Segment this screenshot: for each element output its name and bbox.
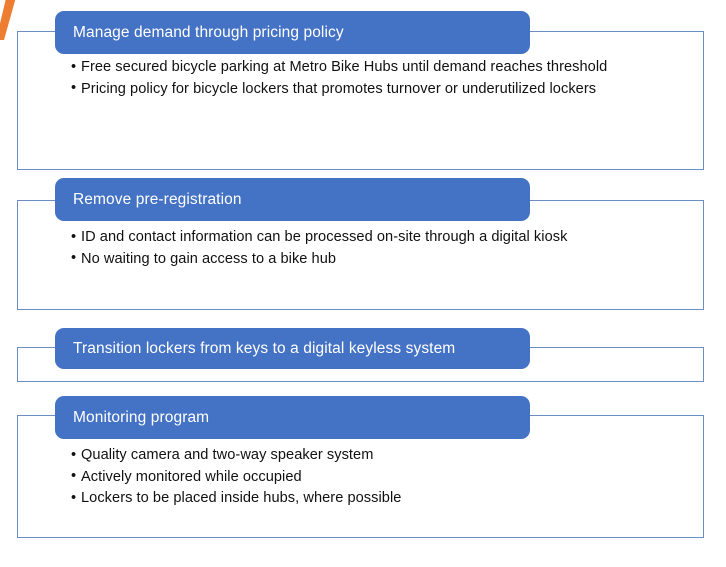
list-item: Pricing policy for bicycle lockers that … — [71, 80, 631, 100]
group-2-title: Remove pre-registration — [73, 191, 242, 209]
group-3-title: Transition lockers from keys to a digita… — [73, 340, 455, 358]
list-item: Free secured bicycle parking at Metro Bi… — [71, 58, 631, 78]
content-group-2: Remove pre-registration ID and contact i… — [17, 167, 704, 317]
group-4-header-bar[interactable]: Monitoring program — [55, 396, 530, 439]
group-2-bullet-list: ID and contact information can be proces… — [71, 228, 676, 271]
group-4-bullet-list: Quality camera and two-way speaker syste… — [71, 446, 631, 511]
slide-canvas: Manage demand through pricing policy Fre… — [0, 0, 726, 567]
group-2-header-bar[interactable]: Remove pre-registration — [55, 178, 530, 221]
content-group-1: Manage demand through pricing policy Fre… — [17, 0, 704, 175]
group-1-bullet-list: Free secured bicycle parking at Metro Bi… — [71, 58, 631, 101]
group-3-header-bar[interactable]: Transition lockers from keys to a digita… — [55, 328, 530, 369]
content-group-4: Monitoring program Quality camera and tw… — [17, 385, 704, 545]
list-item: Actively monitored while occupied — [71, 468, 631, 488]
content-group-3: Transition lockers from keys to a digita… — [17, 317, 704, 387]
group-1-header-bar[interactable]: Manage demand through pricing policy — [55, 11, 530, 54]
list-item: No waiting to gain access to a bike hub — [71, 250, 676, 270]
list-item: ID and contact information can be proces… — [71, 228, 676, 248]
group-4-title: Monitoring program — [73, 409, 209, 427]
list-item: Lockers to be placed inside hubs, where … — [71, 489, 631, 509]
group-1-title: Manage demand through pricing policy — [73, 24, 344, 42]
list-item: Quality camera and two-way speaker syste… — [71, 446, 631, 466]
